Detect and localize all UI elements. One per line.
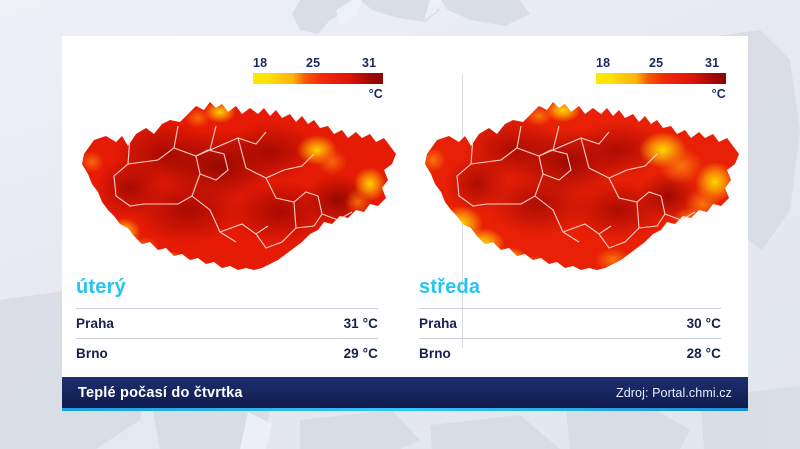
legend-tick-low: 18 — [253, 56, 267, 70]
city-name: Praha — [76, 316, 114, 331]
city-temperature: 30 °C — [687, 316, 721, 331]
headline-text: Teplé počasí do čtvrtka — [78, 385, 243, 401]
legend-color-bar — [253, 73, 383, 84]
czech-republic-temperature-map-wednesday — [413, 92, 743, 277]
table-row: Brno 29 °C — [76, 339, 378, 368]
legend-tick-labels: 18 25 31 — [596, 56, 726, 73]
czech-republic-temperature-map-tuesday — [70, 92, 400, 277]
table-row: Brno 28 °C — [419, 339, 721, 368]
legend-tick-labels: 18 25 31 — [253, 56, 383, 73]
legend-tick-high: 31 — [362, 56, 376, 70]
table-row: Praha 30 °C — [419, 309, 721, 338]
forecast-panel-wednesday: 18 25 31 °C — [405, 36, 748, 377]
source-attribution: Zdroj: Portal.chmi.cz — [616, 386, 732, 400]
legend-tick-low: 18 — [596, 56, 610, 70]
forecast-panel-tuesday: 18 25 31 °C — [62, 36, 405, 377]
city-name: Brno — [419, 346, 451, 361]
city-name: Praha — [419, 316, 457, 331]
city-temperature: 28 °C — [687, 346, 721, 361]
forecast-card: 18 25 31 °C — [62, 36, 748, 377]
city-name: Brno — [76, 346, 108, 361]
city-temperature-list-wednesday: Praha 30 °C Brno 28 °C — [419, 308, 721, 368]
table-row: Praha 31 °C — [76, 309, 378, 338]
banner-accent-line — [62, 408, 748, 411]
legend-tick-mid: 25 — [649, 56, 663, 70]
legend-color-bar — [596, 73, 726, 84]
day-title-tuesday: úterý — [76, 276, 126, 299]
city-temperature-list-tuesday: Praha 31 °C Brno 29 °C — [76, 308, 378, 368]
headline-banner: Teplé počasí do čtvrtka Zdroj: Portal.ch… — [62, 377, 748, 408]
legend-tick-high: 31 — [705, 56, 719, 70]
day-title-wednesday: středa — [419, 276, 480, 299]
city-temperature: 29 °C — [344, 346, 378, 361]
city-temperature: 31 °C — [344, 316, 378, 331]
legend-tick-mid: 25 — [306, 56, 320, 70]
